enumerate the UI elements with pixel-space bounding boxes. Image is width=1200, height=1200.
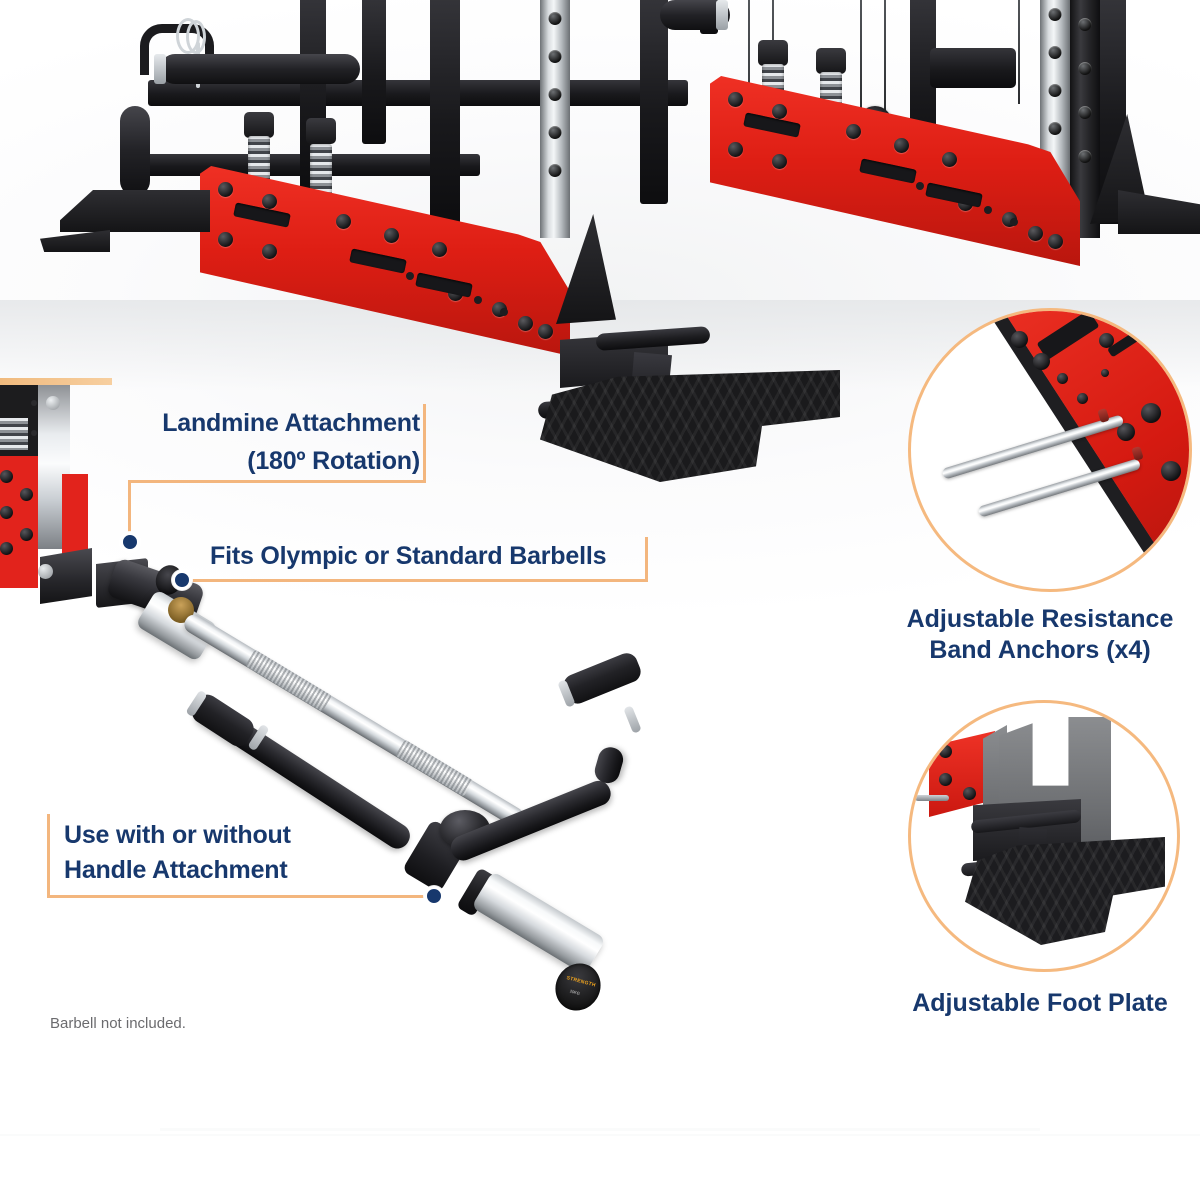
inset-foot-plate-caption: Adjustable Foot Plate xyxy=(880,988,1200,1019)
callout-barbells-line-under xyxy=(188,579,648,582)
callout-landmine-dot xyxy=(120,532,140,552)
disclaimer-text: Barbell not included. xyxy=(50,1015,186,1032)
inset-band-anchors-caption-line2: Band Anchors (x4) xyxy=(880,635,1200,666)
bottom-divider xyxy=(160,1128,1040,1131)
callout-landmine-line2: (180º Rotation) xyxy=(0,446,420,477)
callout-barbells-line-right xyxy=(645,537,648,582)
callout-landmine-line-horizontal xyxy=(423,404,426,482)
callout-handle-line2: Handle Attachment xyxy=(64,855,287,886)
inset-foot-plate-caption-line1: Adjustable Foot Plate xyxy=(880,988,1200,1019)
endcap-sub-text: 20KG xyxy=(569,988,580,995)
callout-landmine-line1: Landmine Attachment xyxy=(0,408,420,439)
callout-barbells-line1: Fits Olympic or Standard Barbells xyxy=(210,541,606,572)
inset-band-anchors-caption: Adjustable Resistance Band Anchors (x4) xyxy=(880,604,1200,666)
rack-base-panel-left xyxy=(200,166,570,356)
inset-band-anchors-caption-line1: Adjustable Resistance xyxy=(880,604,1200,635)
callout-handle-dot xyxy=(424,886,444,906)
callout-handle-line1: Use with or without xyxy=(64,820,291,851)
callout-barbells-dot xyxy=(172,570,192,590)
callout-handle-line-under xyxy=(47,895,437,898)
fragment-top-edge xyxy=(0,378,112,385)
product-feature-infographic: STRENGTH 20KG Landmine Attachment (180º … xyxy=(0,0,1200,1200)
rack-base-panel-right xyxy=(710,76,1080,266)
callout-landmine-line-under xyxy=(128,480,426,483)
inset-foot-plate xyxy=(908,700,1180,972)
inset-band-anchors xyxy=(908,308,1192,592)
callout-handle-line-vertical xyxy=(47,814,50,898)
endcap-brand-text: STRENGTH xyxy=(566,975,596,989)
bottom-divider-2 xyxy=(0,1134,1200,1136)
